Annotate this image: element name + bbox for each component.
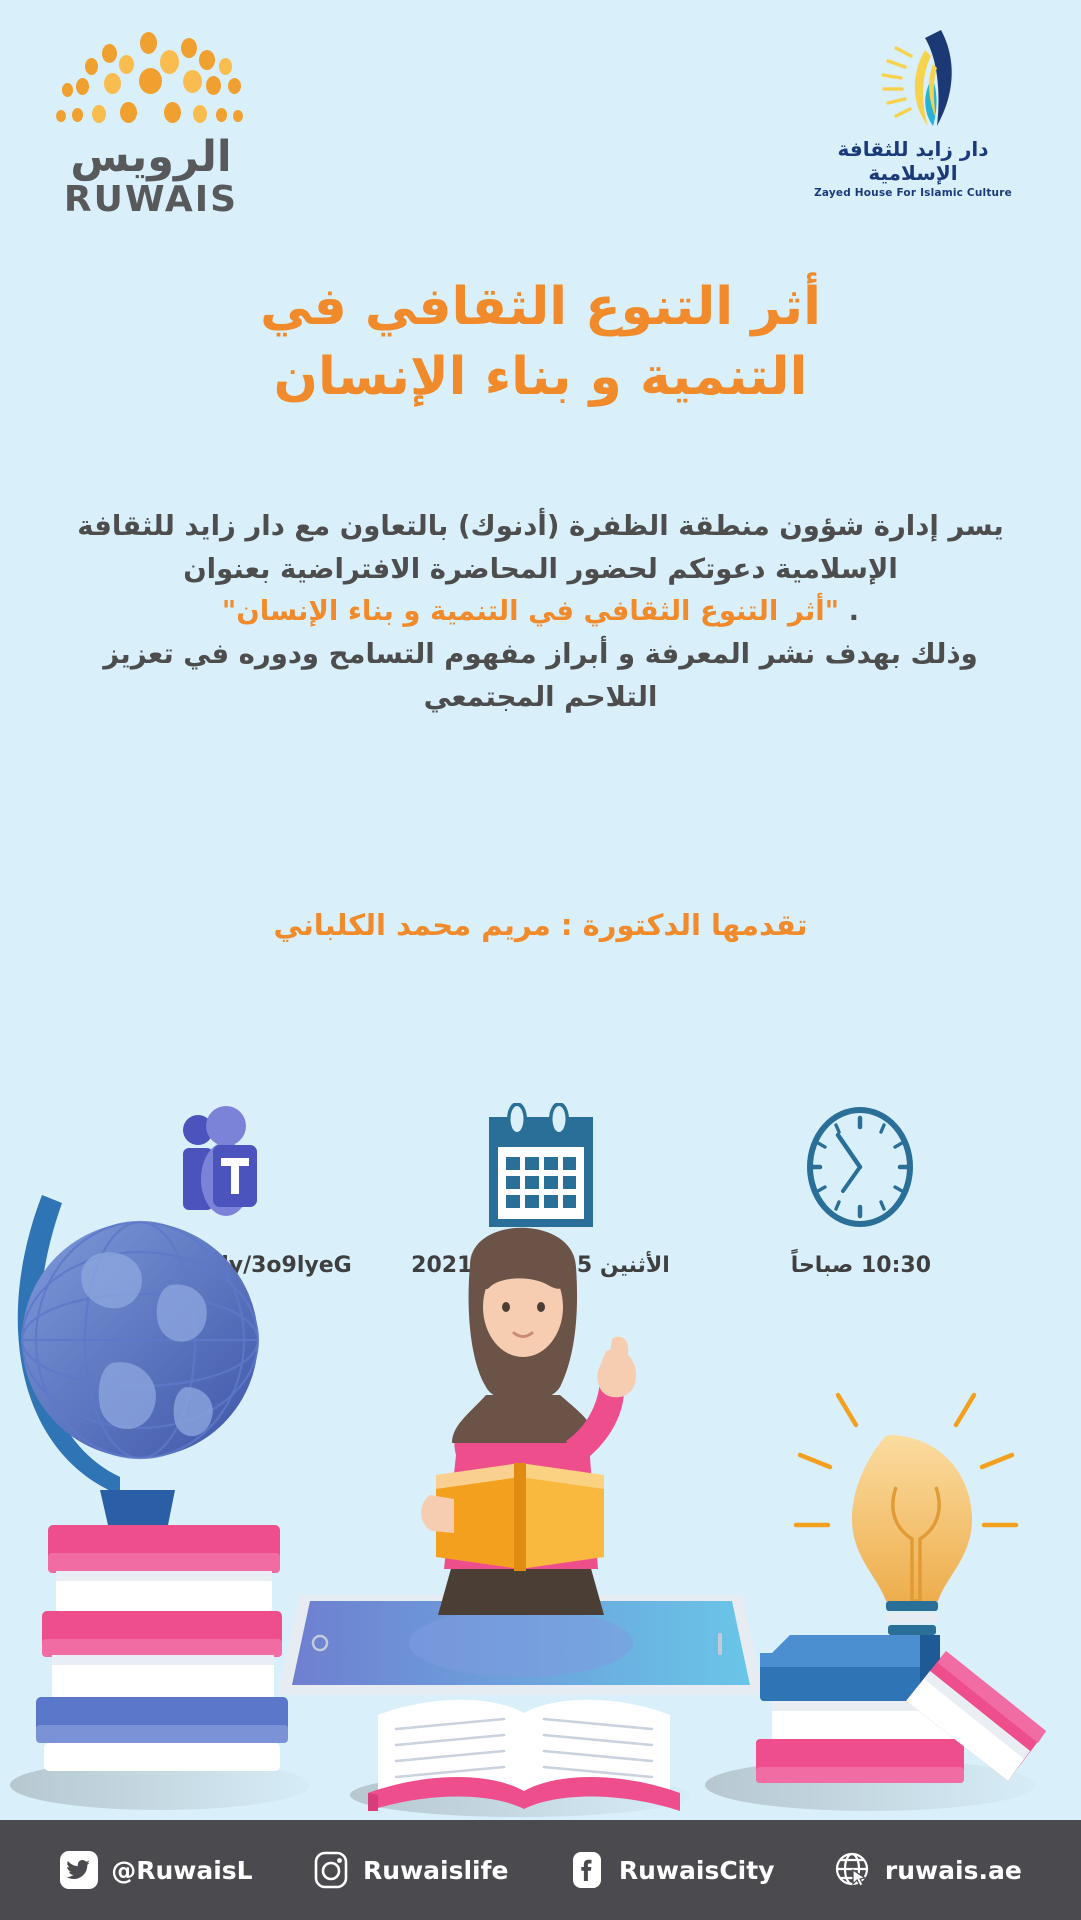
social-twitter[interactable]: @RuwaisL <box>59 1850 252 1890</box>
poster-body: يسر إدارة شؤون منطقة الظفرة (أدنوك) بالت… <box>0 505 1081 718</box>
open-book-illustration <box>368 1700 680 1811</box>
social-instagram[interactable]: Ruwaislife <box>311 1850 508 1890</box>
ruwais-logo-english: RUWAIS <box>46 179 256 220</box>
ruwais-logo-arabic: الرويس <box>46 136 256 179</box>
social-handle-facebook: RuwaisCity <box>619 1856 775 1885</box>
woman-reading-illustration <box>278 1228 764 1695</box>
illustration-group <box>0 1095 1081 1825</box>
title-line-2: التنمية و بناء الإنسان <box>0 342 1081 412</box>
body-line-5: التلاحم المجتمعي <box>70 676 1011 719</box>
ruwais-logo: الرويس RUWAIS <box>46 30 256 220</box>
social-handle-twitter: @RuwaisL <box>111 1856 252 1885</box>
social-website[interactable]: ruwais.ae <box>833 1850 1022 1890</box>
zayed-house-logo: دار زايد للثقافة الإسلامية Zayed House F… <box>793 28 1033 199</box>
speaker-name: تقدمها الدكتورة : مريم محمد الكلباني <box>0 908 1081 942</box>
body-line-1: يسر إدارة شؤون منطقة الظفرة (أدنوك) بالت… <box>70 505 1011 548</box>
body-line-3-quote: "أثر التنوع الثقافي في التنمية و بناء ال… <box>222 595 839 627</box>
globe-on-books-illustration <box>18 1195 288 1771</box>
footer-bar: @RuwaisL Ruwaislife RuwaisCity <box>0 1820 1081 1920</box>
twitter-icon <box>59 1850 99 1890</box>
social-handle-website: ruwais.ae <box>885 1856 1022 1885</box>
poster-header: الرويس RUWAIS <box>0 0 1081 230</box>
body-line-4: وذلك بهدف نشر المعرفة و أبراز مفهوم التس… <box>70 633 1011 676</box>
body-line-3-period: . <box>849 590 859 633</box>
globe-icon <box>833 1850 873 1890</box>
title-line-1: أثر التنوع الثقافي في <box>0 272 1081 342</box>
social-facebook[interactable]: RuwaisCity <box>567 1850 775 1890</box>
stacked-books-illustration <box>756 1635 1046 1783</box>
instagram-icon <box>311 1850 351 1890</box>
zayed-flame-icon <box>793 28 1033 133</box>
social-handle-instagram: Ruwaislife <box>363 1856 508 1885</box>
body-line-2: الإسلامية دعوتكم لحضور المحاضرة الافتراض… <box>70 548 1011 591</box>
poster-root: الرويس RUWAIS <box>0 0 1081 1920</box>
zayed-logo-english: Zayed House For Islamic Culture <box>793 187 1033 199</box>
facebook-icon <box>567 1850 607 1890</box>
light-bulb-illustration <box>796 1395 1016 1649</box>
zayed-logo-arabic: دار زايد للثقافة الإسلامية <box>793 137 1033 185</box>
body-line-3: . "أثر التنوع الثقافي في التنمية و بناء … <box>70 590 1011 633</box>
ruwais-dots-icon <box>56 30 246 130</box>
poster-title: أثر التنوع الثقافي في التنمية و بناء الإ… <box>0 272 1081 412</box>
